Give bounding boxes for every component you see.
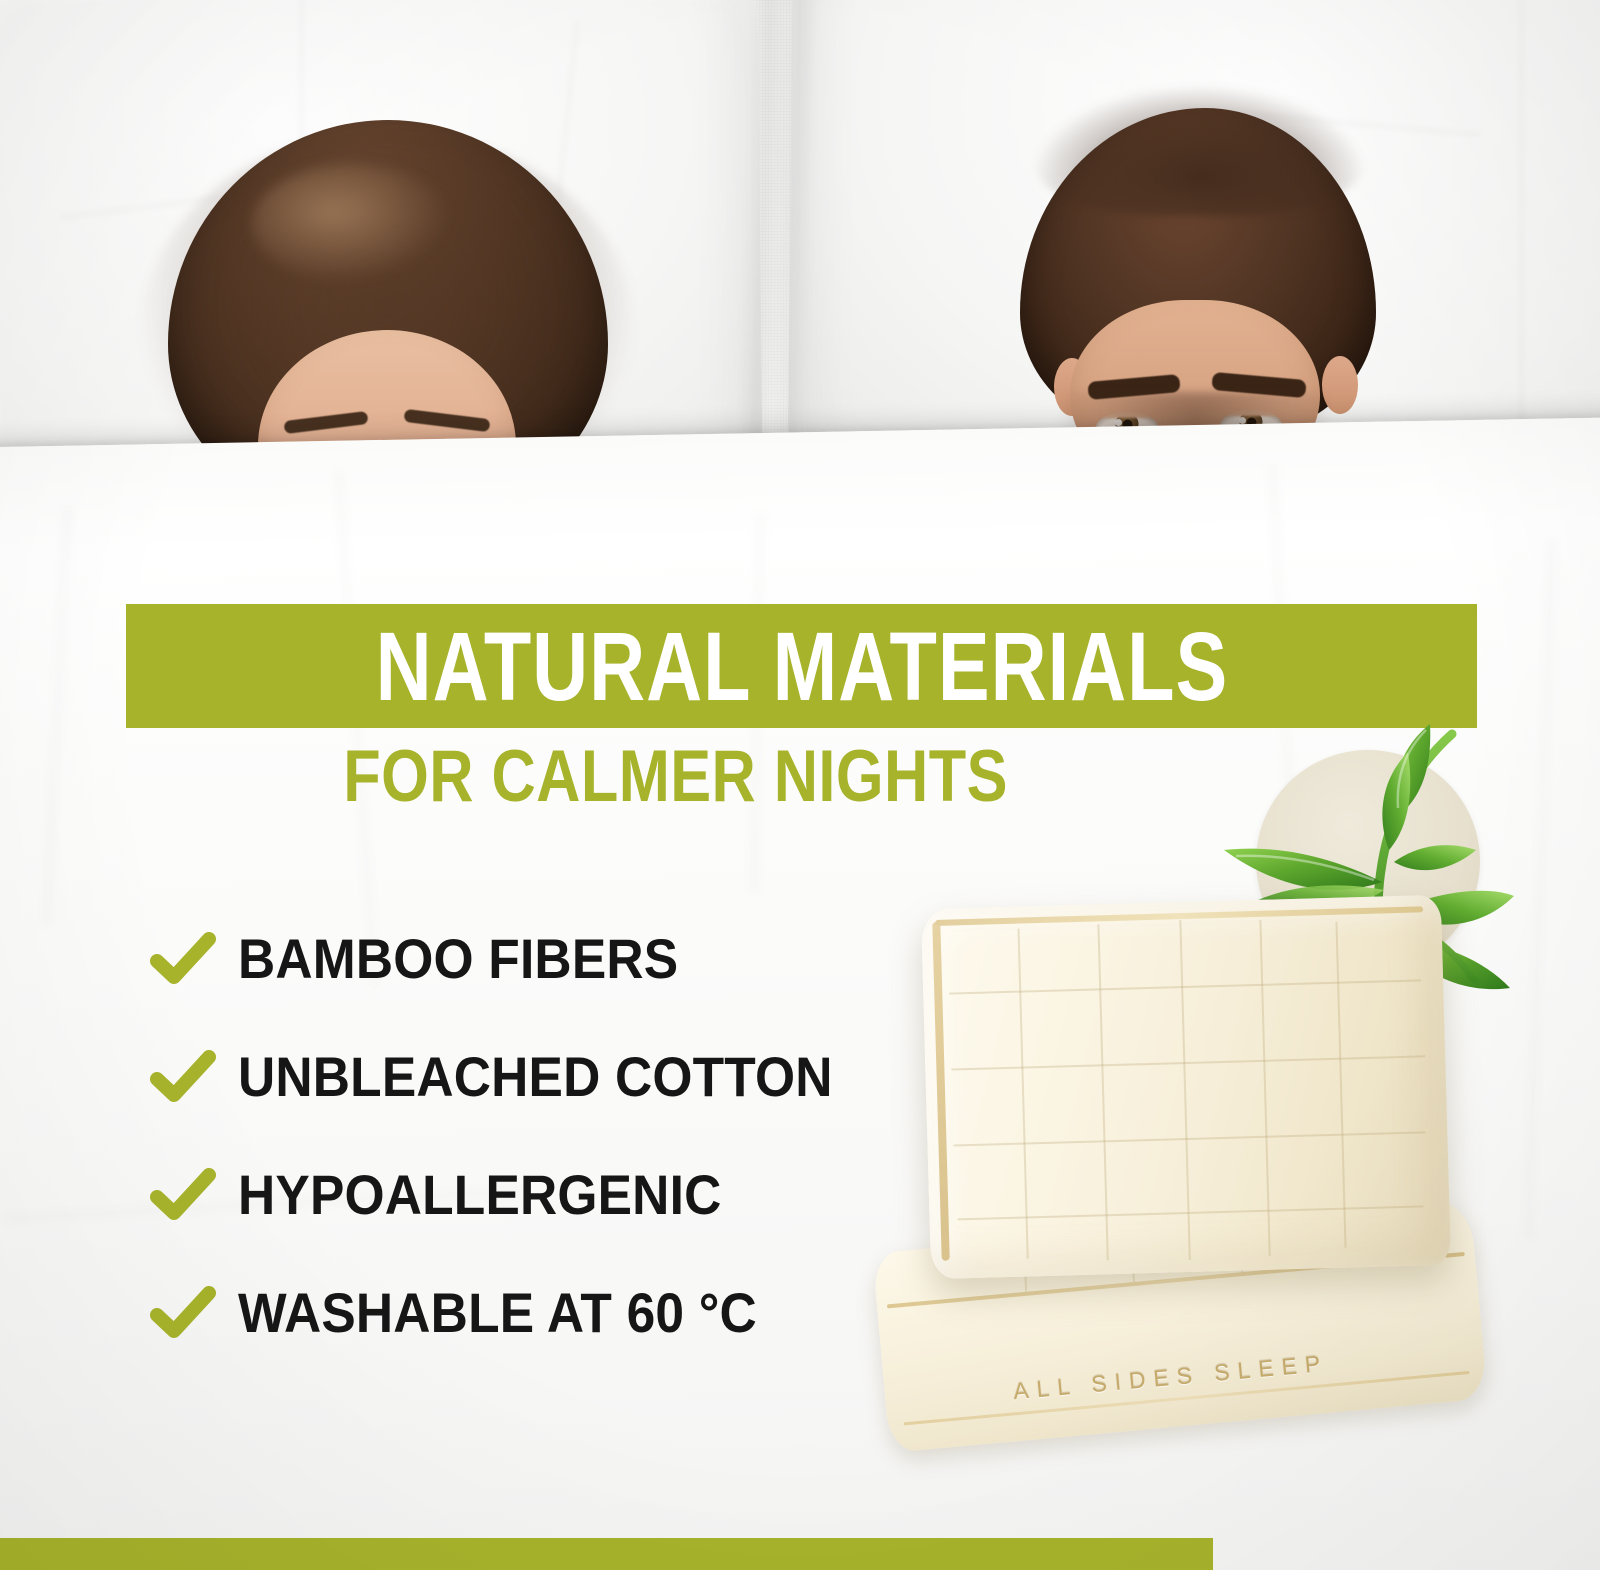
check-icon [150, 1048, 216, 1106]
check-icon [150, 1166, 216, 1224]
duvet-crease [1526, 539, 1555, 1239]
feature-label: UNBLEACHED COTTON [238, 1049, 884, 1105]
feature-item-washable: WASHABLE AT 60 °C [150, 1254, 910, 1372]
woman-eyebrow-left [284, 411, 369, 434]
feature-label: BAMBOO FIBERS [238, 931, 717, 987]
marketing-infographic: NATURAL MATERIALS FOR CALMER NIGHTS [0, 0, 1600, 1570]
product-pillows: ALL SIDES SLEEP [880, 880, 1500, 1460]
sheet-fold [1520, 0, 1523, 420]
feature-label: HYPOALLERGENIC [238, 1167, 764, 1223]
bottom-accent-bar [0, 1538, 1213, 1570]
woman-eyebrow-right [404, 409, 491, 432]
check-icon [150, 930, 216, 988]
check-icon [150, 1284, 216, 1342]
headline-text: NATURAL MATERIALS [375, 618, 1228, 715]
feature-label: WASHABLE AT 60 °C [238, 1285, 802, 1341]
pillow-standing [921, 895, 1451, 1279]
duvet-crease [43, 506, 71, 926]
feature-item-hypoallergenic: HYPOALLERGENIC [150, 1136, 910, 1254]
subheadline-text: FOR CALMER NIGHTS [344, 740, 1009, 813]
feature-item-bamboo-fibers: BAMBOO FIBERS [150, 900, 910, 1018]
feature-list: BAMBOO FIBERS UNBLEACHED COTTON HYPOALLE… [150, 900, 910, 1372]
subheadline: FOR CALMER NIGHTS [126, 740, 1226, 813]
feature-item-unbleached-cotton: UNBLEACHED COTTON [150, 1018, 910, 1136]
